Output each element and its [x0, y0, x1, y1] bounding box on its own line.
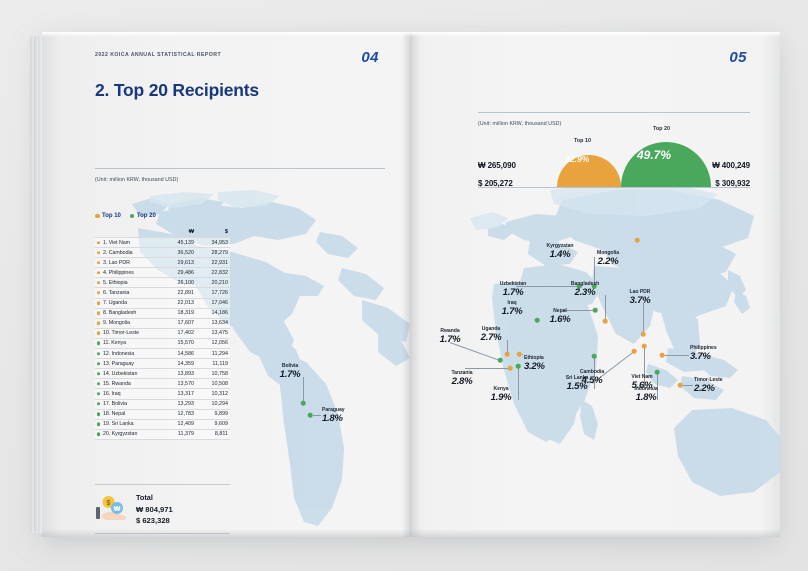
title-divider	[95, 168, 385, 169]
running-head: 2022 KOICA ANNUAL STATISTICAL REPORT	[95, 52, 221, 58]
arc-percent-top10: 32.9%	[565, 154, 589, 164]
cell-country: 19. Sri Lanka	[95, 419, 164, 429]
cell-krw: 22,013	[164, 298, 201, 308]
cell-usd: 8,811	[201, 429, 230, 439]
top10-usd: $ 205,272	[478, 179, 513, 188]
table-row: 13. Paraguay14,35911,119	[95, 359, 230, 369]
table-row: 9. Mongolia17,60713,634	[95, 318, 230, 328]
cell-usd: 13,634	[201, 318, 230, 328]
open-book: 2022 KOICA ANNUAL STATISTICAL REPORT 04 …	[30, 32, 780, 537]
table-row: 1. Viet Nam45,13934,953	[95, 238, 230, 248]
table-row: 3. Lao PDR29,61322,931	[95, 258, 230, 268]
table-row: 4. Philippines29,48622,832	[95, 268, 230, 278]
legend-label-top10: Top 10	[102, 213, 121, 219]
legend-dot-top10-icon	[95, 214, 100, 219]
page-number-left: 04	[361, 49, 379, 66]
table-row: 5. Ethiopia26,10020,210	[95, 278, 230, 288]
page-title: 2. Top 20 Recipients	[95, 80, 259, 101]
cell-country: 13. Paraguay	[95, 359, 164, 369]
col-header-krw: ₩	[164, 228, 201, 238]
table-row: 12. Indonesia14,58611,294	[95, 349, 230, 359]
arc-baseline	[478, 187, 750, 188]
cell-krw: 45,139	[164, 238, 201, 248]
table-row: 19. Sri Lanka12,4099,609	[95, 419, 230, 429]
cell-country: 18. Nepal	[95, 409, 164, 419]
cell-usd: 9,899	[201, 409, 230, 419]
cell-country: 15. Rwanda	[95, 379, 164, 389]
cell-krw: 36,520	[164, 248, 201, 258]
cell-usd: 11,119	[201, 359, 230, 369]
total-krw: ₩ 804,971	[136, 504, 173, 516]
cell-country: 20. Kyrgyzstan	[95, 429, 164, 439]
table-row: 11. Kenya15,57012,056	[95, 338, 230, 348]
table-row: 7. Uganda22,01317,046	[95, 298, 230, 308]
top10-krw: ₩ 265,090	[478, 161, 516, 170]
cell-country: 7. Uganda	[95, 298, 164, 308]
chart-legend: Top 10 Top 20	[95, 213, 156, 219]
page-right: 05 (Unit: million KRW, thousand USD) Top…	[410, 32, 780, 537]
cell-krw: 29,486	[164, 268, 201, 278]
legend-dot-top20-icon	[130, 214, 135, 219]
book-bottom-shadow	[42, 529, 780, 537]
table-row: 14. Uzbekistan13,89310,758	[95, 369, 230, 379]
cell-usd: 10,508	[201, 379, 230, 389]
arc-label-top20: Top 20	[653, 126, 670, 132]
cell-krw: 14,359	[164, 359, 201, 369]
col-header-country	[95, 228, 164, 238]
cell-country: 1. Viet Nam	[95, 238, 164, 248]
cell-country: 3. Lao PDR	[95, 258, 164, 268]
cell-krw: 22,891	[164, 288, 201, 298]
legend-label-top20: Top 20	[137, 213, 156, 219]
cell-usd: 17,046	[201, 298, 230, 308]
cell-country: 9. Mongolia	[95, 318, 164, 328]
cell-krw: 13,317	[164, 389, 201, 399]
col-header-usd: $	[201, 228, 230, 238]
table-row: 16. Iraq13,31710,312	[95, 389, 230, 399]
cell-usd: 22,832	[201, 268, 230, 278]
cell-country: 4. Philippines	[95, 268, 164, 278]
cell-krw: 13,570	[164, 379, 201, 389]
total-content: $ ₩ Total ₩ 804,971 $ 623,328	[95, 492, 173, 527]
top20-usd: $ 309,932	[715, 179, 750, 188]
svg-text:$: $	[107, 500, 111, 507]
book-top-highlight	[42, 32, 780, 37]
total-divider-top	[95, 484, 230, 485]
cell-krw: 18,319	[164, 308, 201, 318]
cell-krw: 29,613	[164, 258, 201, 268]
table-row: 2. Cambodia36,52028,279	[95, 248, 230, 258]
cell-krw: 12,783	[164, 409, 201, 419]
table-row: 8. Bangladesh18,31914,186	[95, 308, 230, 318]
table-row: 6. Tanzania22,89117,726	[95, 288, 230, 298]
cell-krw: 13,293	[164, 399, 201, 409]
arc-label-top10: Top 10	[574, 138, 591, 144]
cell-usd: 10,758	[201, 369, 230, 379]
page-left: 2022 KOICA ANNUAL STATISTICAL REPORT 04 …	[42, 32, 410, 537]
cell-usd: 10,294	[201, 399, 230, 409]
table-header-row: ₩ $	[95, 228, 230, 238]
money-hand-icon: $ ₩	[95, 494, 129, 524]
cell-krw: 15,570	[164, 338, 201, 348]
total-usd: $ 623,328	[136, 515, 173, 527]
legend-item-top20: Top 20	[130, 213, 156, 219]
cell-usd: 11,294	[201, 349, 230, 359]
cell-krw: 14,586	[164, 349, 201, 359]
left-page-content: 2022 KOICA ANNUAL STATISTICAL REPORT 04 …	[42, 32, 410, 537]
table-row: 20. Kyrgyzstan11,3798,811	[95, 429, 230, 439]
cell-country: 2. Cambodia	[95, 248, 164, 258]
cell-krw: 17,607	[164, 318, 201, 328]
cell-krw: 13,893	[164, 369, 201, 379]
cell-usd: 12,056	[201, 338, 230, 348]
cell-usd: 14,186	[201, 308, 230, 318]
cell-usd: 28,279	[201, 248, 230, 258]
arc-percent-top20: 49.7%	[637, 148, 671, 162]
total-label: Total	[136, 492, 173, 504]
unit-note-left: (Unit: million KRW, thousand USD)	[95, 177, 178, 183]
cell-country: 8. Bangladesh	[95, 308, 164, 318]
svg-text:₩: ₩	[114, 506, 121, 513]
total-box: $ ₩ Total ₩ 804,971 $ 623,328	[95, 484, 230, 534]
legend-item-top10: Top 10	[95, 213, 121, 219]
table-row: 10. Timor-Leste17,40213,475	[95, 328, 230, 338]
cell-country: 14. Uzbekistan	[95, 369, 164, 379]
summary-divider-top	[478, 112, 750, 113]
cell-usd: 34,953	[201, 238, 230, 248]
cell-usd: 20,210	[201, 278, 230, 288]
cell-country: 6. Tanzania	[95, 288, 164, 298]
cell-krw: 17,402	[164, 328, 201, 338]
table-row: 17. Bolivia13,29310,294	[95, 399, 230, 409]
top20-table: ₩ $ 1. Viet Nam45,13934,9532. Cambodia36…	[95, 228, 230, 440]
cell-country: 12. Indonesia	[95, 349, 164, 359]
cell-country: 11. Kenya	[95, 338, 164, 348]
share-arc-chart: Top 10 32.9% Top 20 49.7% ₩ 265,090 $ 20…	[410, 132, 780, 194]
cell-usd: 9,609	[201, 419, 230, 429]
screenshot-root: 2022 KOICA ANNUAL STATISTICAL REPORT 04 …	[0, 0, 808, 571]
top20-krw: ₩ 400,249	[712, 161, 750, 170]
page-number-right: 05	[729, 49, 747, 66]
cell-country: 10. Timor-Leste	[95, 328, 164, 338]
cell-krw: 11,379	[164, 429, 201, 439]
cell-country: 16. Iraq	[95, 389, 164, 399]
cell-usd: 17,726	[201, 288, 230, 298]
cell-country: 17. Bolivia	[95, 399, 164, 409]
total-values: Total ₩ 804,971 $ 623,328	[136, 492, 173, 527]
cell-country: 5. Ethiopia	[95, 278, 164, 288]
cell-usd: 10,312	[201, 389, 230, 399]
table-row: 15. Rwanda13,57010,508	[95, 379, 230, 389]
cell-usd: 22,931	[201, 258, 230, 268]
table-head: ₩ $	[95, 228, 230, 238]
unit-note-right: (Unit: million KRW, thousand USD)	[478, 121, 561, 127]
cell-krw: 12,409	[164, 419, 201, 429]
cell-usd: 13,475	[201, 328, 230, 338]
table-row: 18. Nepal12,7839,899	[95, 409, 230, 419]
right-page-content: 05 (Unit: million KRW, thousand USD) Top…	[410, 32, 780, 537]
table-body: 1. Viet Nam45,13934,9532. Cambodia36,520…	[95, 238, 230, 440]
cell-krw: 26,100	[164, 278, 201, 288]
